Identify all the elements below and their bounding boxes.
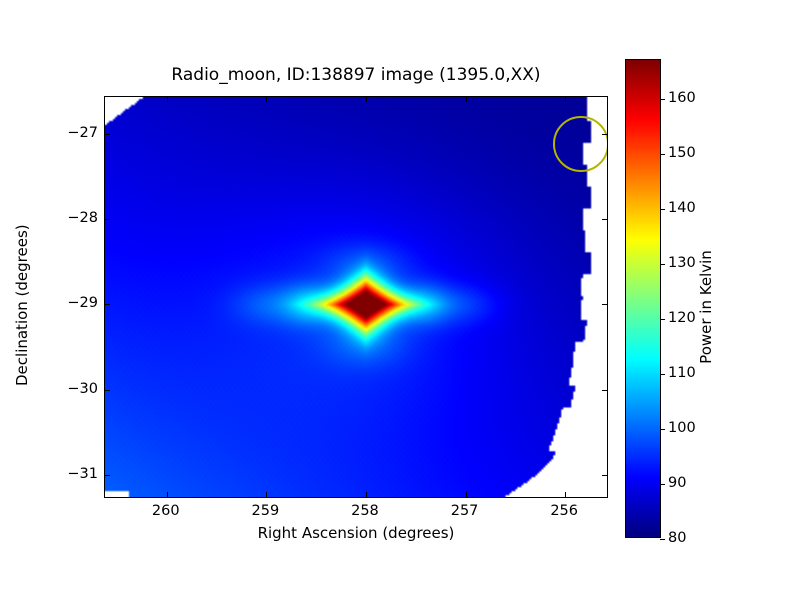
moon-disk-circle-icon xyxy=(553,116,608,172)
x-tick-label: 258 xyxy=(351,503,379,519)
x-tick xyxy=(266,97,267,102)
x-tick xyxy=(565,492,566,497)
colorbar-tick xyxy=(660,429,665,430)
y-tick xyxy=(105,390,110,391)
colorbar-tick xyxy=(660,154,665,155)
y-tick xyxy=(602,475,607,476)
colorbar-tick xyxy=(660,539,665,540)
colorbar-tick xyxy=(660,484,665,485)
x-tick xyxy=(266,492,267,497)
x-tick xyxy=(366,97,367,102)
x-tick xyxy=(466,492,467,497)
x-tick-label: 259 xyxy=(252,503,280,519)
y-tick xyxy=(105,134,110,135)
y-tick xyxy=(602,304,607,305)
y-tick xyxy=(602,390,607,391)
radio-map-image xyxy=(105,97,607,497)
colorbar-tick-label: 90 xyxy=(668,475,686,491)
colorbar-tick xyxy=(660,319,665,320)
y-tick-label: −27 xyxy=(56,125,98,141)
colorbar-title: Power in Kelvin xyxy=(697,217,715,397)
x-tick-label: 257 xyxy=(451,503,479,519)
x-axis-label: Right Ascension (degrees) xyxy=(104,524,608,542)
x-tick-label: 260 xyxy=(152,503,180,519)
y-tick xyxy=(105,304,110,305)
colorbar-tick xyxy=(660,374,665,375)
y-tick-label: −28 xyxy=(56,210,98,226)
x-tick xyxy=(167,492,168,497)
y-axis-label: Declination (degrees) xyxy=(13,226,31,386)
x-tick xyxy=(167,97,168,102)
colorbar[interactable] xyxy=(625,59,661,538)
y-tick-label: −29 xyxy=(56,295,98,311)
y-tick xyxy=(602,219,607,220)
y-tick xyxy=(105,475,110,476)
colorbar-tick xyxy=(660,209,665,210)
x-tick-label: 256 xyxy=(550,503,578,519)
colorbar-tick-label: 80 xyxy=(668,530,686,546)
y-tick xyxy=(602,134,607,135)
colorbar-tick-label: 140 xyxy=(668,200,696,216)
x-tick xyxy=(466,97,467,102)
colorbar-tick-label: 150 xyxy=(668,145,696,161)
colorbar-tick-label: 130 xyxy=(668,255,696,271)
y-tick xyxy=(105,219,110,220)
x-tick xyxy=(565,97,566,102)
colorbar-tick-label: 120 xyxy=(668,310,696,326)
y-tick-label: −31 xyxy=(56,466,98,482)
colorbar-tick-label: 100 xyxy=(668,420,696,436)
image-axes[interactable] xyxy=(104,96,608,498)
figure-canvas: Radio_moon, ID:138897 image (1395.0,XX) … xyxy=(0,0,800,600)
colorbar-tick-label: 160 xyxy=(668,90,696,106)
x-tick xyxy=(366,492,367,497)
page-title: Radio_moon, ID:138897 image (1395.0,XX) xyxy=(104,65,608,85)
colorbar-tick xyxy=(660,264,665,265)
colorbar-tick xyxy=(660,99,665,100)
colorbar-tick-label: 110 xyxy=(668,365,696,381)
y-tick-label: −30 xyxy=(56,381,98,397)
